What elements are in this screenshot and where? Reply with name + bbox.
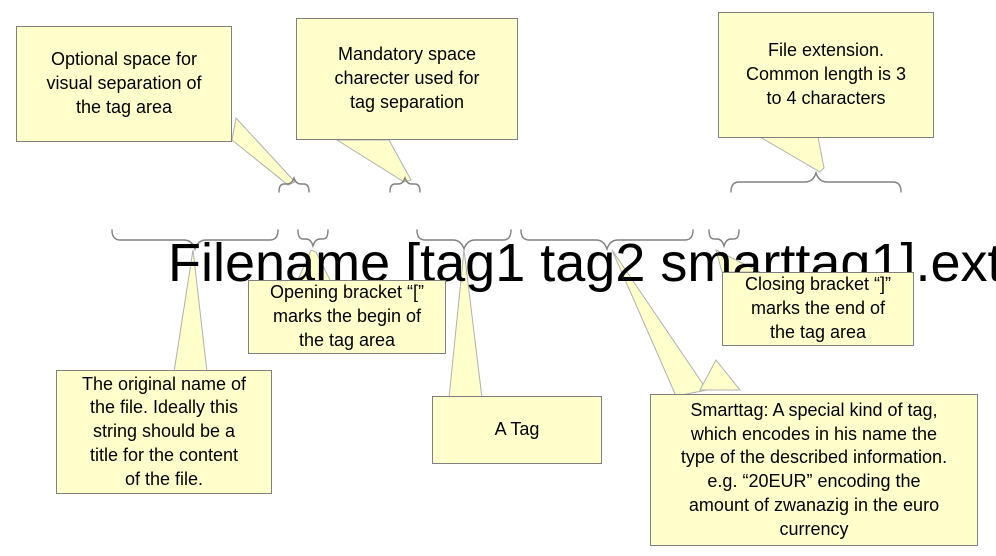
callout-file-extension-text: File extension. Common length is 3 to 4 … — [746, 39, 906, 110]
leader-file-extension — [760, 137, 824, 172]
callout-file-extension: File extension. Common length is 3 to 4 … — [718, 12, 934, 138]
callout-mandatory-space: Mandatory space charecter used for tag s… — [296, 18, 518, 140]
callout-original-name-text: The original name of the file. Ideally t… — [82, 373, 246, 492]
callout-closing-bracket: Closing bracket “]” marks the end of the… — [722, 272, 914, 346]
callout-optional-space: Optional space for visual separation of … — [16, 26, 232, 142]
diagram-canvas: Filename [tag1 tag2 smarttag1].extension… — [0, 0, 996, 556]
callout-optional-space-text: Optional space for visual separation of … — [46, 48, 201, 119]
filename-space-2 — [525, 233, 540, 293]
callout-a-tag: A Tag — [432, 396, 602, 464]
filename-extension: .extension — [916, 233, 996, 293]
leader-smarttag-secondary — [700, 360, 740, 390]
callout-smarttag-text: Smarttag: A special kind of tag, which e… — [681, 399, 947, 542]
callout-smarttag: Smarttag: A special kind of tag, which e… — [650, 394, 978, 546]
callout-opening-bracket: Opening bracket “[” marks the begin of t… — [248, 280, 446, 354]
callout-original-name: The original name of the file. Ideally t… — [56, 370, 272, 494]
filename-space-3 — [645, 233, 660, 293]
leader-optional-space — [232, 118, 295, 185]
callout-opening-bracket-text: Opening bracket “[” marks the begin of t… — [270, 281, 424, 352]
callout-mandatory-space-text: Mandatory space charecter used for tag s… — [334, 43, 479, 114]
filename-tag2: tag2 — [540, 233, 645, 293]
callout-closing-bracket-text: Closing bracket “]” marks the end of the… — [745, 273, 891, 344]
callout-a-tag-text: A Tag — [495, 418, 540, 442]
